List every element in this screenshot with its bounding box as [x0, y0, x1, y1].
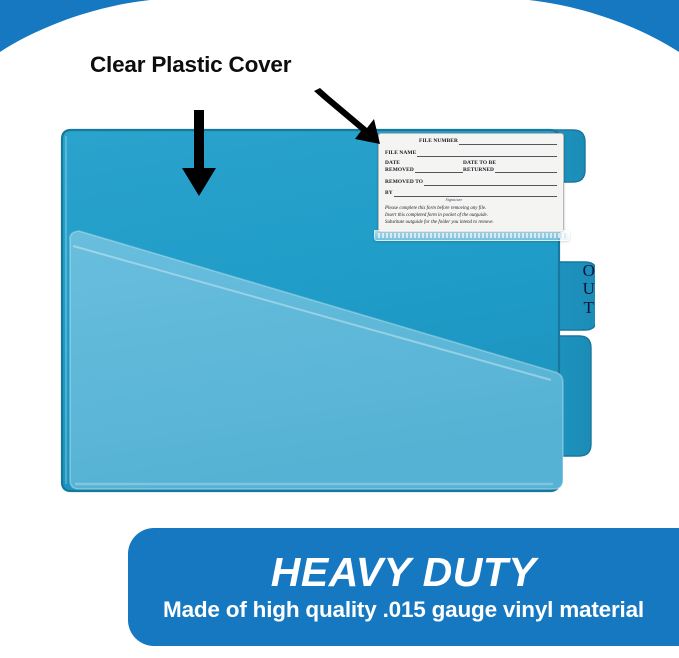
removed-rule [415, 166, 463, 173]
returned-line: RETURNED [463, 166, 557, 173]
file-name-label: FILE NAME [385, 151, 416, 157]
form-instructions: Please complete this form before removin… [385, 205, 557, 227]
returned-rule [495, 166, 557, 173]
form-row-by: BY [385, 190, 557, 197]
out-tab-letter-u: U [578, 280, 600, 298]
product-image-canvas: Clear Plastic Cover [0, 0, 679, 658]
clear-plastic-sleeve-strip [374, 230, 570, 241]
date-returned-group: DATE TO BE RETURNED [463, 160, 557, 173]
file-name-rule [417, 150, 557, 157]
form-row-dates: DATE REMOVED DATE TO BE RETURNED [385, 160, 557, 173]
removed-label: REMOVED [385, 167, 414, 173]
instruction-line-2: Insert this completed form in pocket of … [385, 212, 557, 219]
out-tab-letter-t: T [578, 299, 600, 317]
out-tab-label: O U T [578, 262, 600, 317]
date-removed-group: DATE REMOVED [385, 160, 463, 173]
form-row-file-name: FILE NAME [385, 150, 557, 157]
corner-swoosh-right-svg [529, 0, 679, 64]
by-label: BY [385, 191, 393, 197]
form-row-file-number: FILE NUMBER [385, 138, 557, 145]
file-number-label: FILE NUMBER [419, 139, 458, 145]
corner-swoosh-right-decoration [529, 0, 679, 64]
removed-line: REMOVED [385, 166, 463, 173]
form-row-removed-to: REMOVED TO [385, 179, 557, 186]
file-request-form-card: FILE NUMBER FILE NAME DATE REMOVED DATE … [378, 133, 564, 232]
instruction-line-1: Please complete this form before removin… [385, 205, 557, 212]
instruction-line-3: Substitute outguide for the folder you i… [385, 219, 557, 226]
file-number-rule [459, 138, 557, 145]
out-tab-letter-o: O [578, 262, 600, 280]
removed-to-rule [424, 179, 557, 186]
clear-plastic-cover-label: Clear Plastic Cover [90, 52, 291, 78]
heavy-duty-banner: HEAVY DUTY Made of high quality .015 gau… [128, 528, 679, 646]
returned-label: RETURNED [463, 167, 494, 173]
banner-title: HEAVY DUTY [271, 552, 536, 593]
signature-caption: Signature [385, 198, 557, 202]
by-rule [394, 190, 557, 197]
removed-to-label: REMOVED TO [385, 180, 423, 186]
banner-subtitle: Made of high quality .015 gauge vinyl ma… [163, 599, 644, 622]
